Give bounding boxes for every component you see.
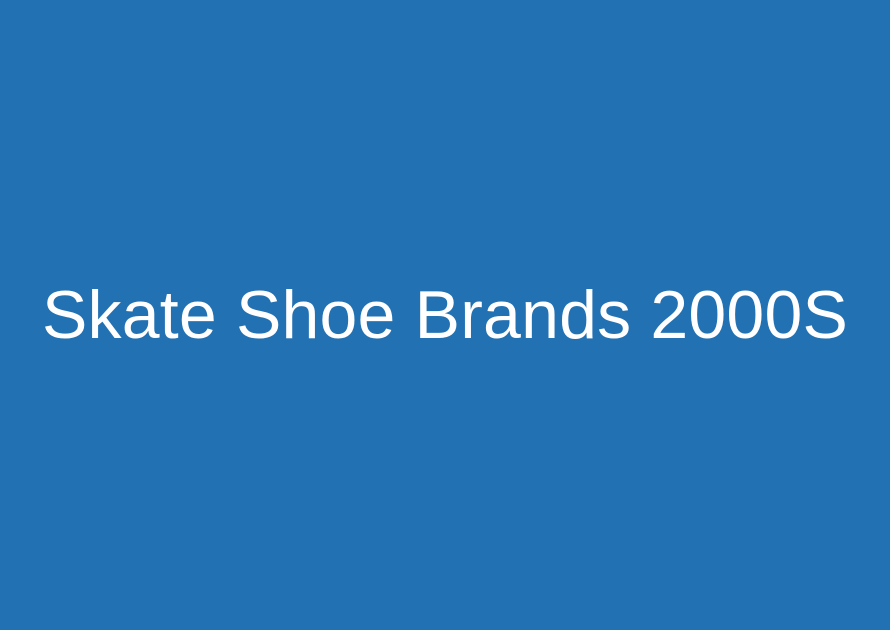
title-banner: Skate Shoe Brands 2000S — [0, 0, 890, 630]
page-title: Skate Shoe Brands 2000S — [18, 277, 872, 353]
